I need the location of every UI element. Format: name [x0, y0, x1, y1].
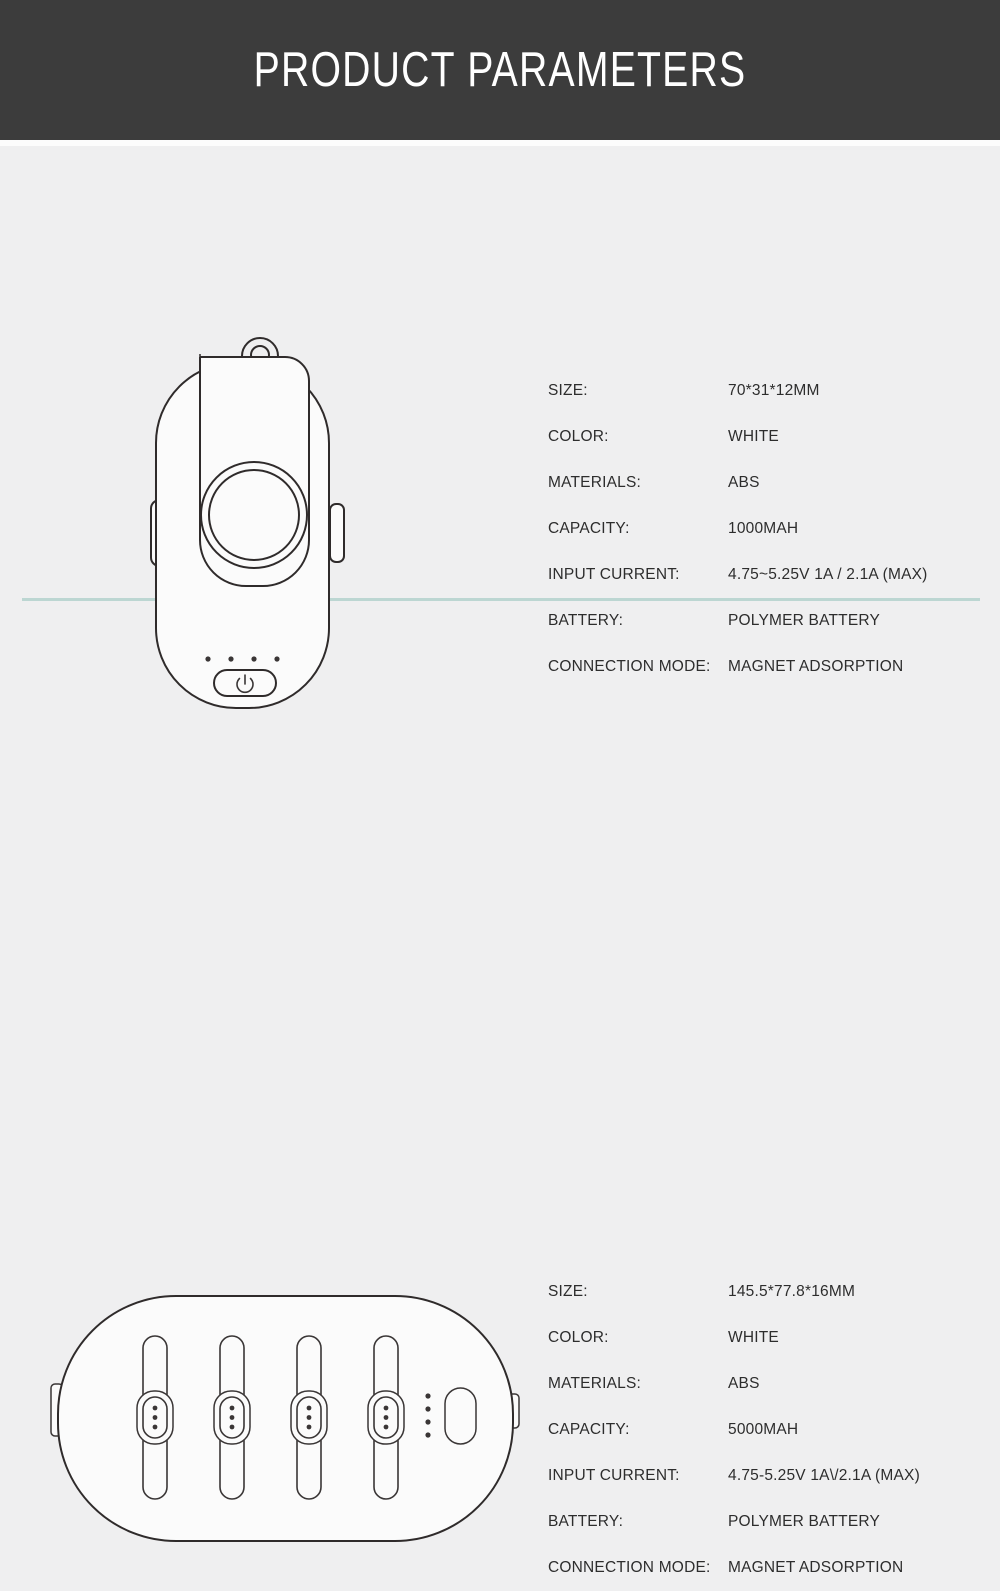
pogo-pin: [230, 1406, 235, 1411]
pogo-pin: [384, 1406, 389, 1411]
spec-label: COLOR:: [548, 1315, 728, 1361]
spec-label: CAPACITY:: [548, 1407, 728, 1453]
pogo-pin: [230, 1415, 235, 1420]
pogo-pin: [230, 1425, 235, 1430]
power-button-icon: [445, 1388, 476, 1444]
led-dot: [425, 1432, 430, 1437]
side-button-right-icon: [330, 504, 344, 562]
pogo-pin: [307, 1415, 312, 1420]
page-header: PRODUCT PARAMETERS: [0, 0, 1000, 140]
pogo-pin: [307, 1425, 312, 1430]
spec-label: COLOR:: [548, 414, 728, 460]
spec-value: ABS: [728, 460, 928, 506]
spec-value: ABS: [728, 1361, 920, 1407]
pogo-pin: [153, 1425, 158, 1430]
spec-value: MAGNET ADSORPTION: [728, 1545, 920, 1591]
pogo-pin: [384, 1425, 389, 1430]
spec-value: 4.75-5.25V 1A\/2.1A (MAX): [728, 1453, 920, 1499]
pogo-pin: [384, 1415, 389, 1420]
spec-label: MATERIALS:: [548, 1361, 728, 1407]
led-dot: [425, 1406, 430, 1411]
pogo-pin: [307, 1406, 312, 1411]
spec-label: INPUT CURRENT:: [548, 552, 728, 598]
spec-label: BATTERY:: [548, 1499, 728, 1545]
section-power-bank-clip: SIZE: 70*31*12MM COLOR: WHITE MATERIALS:…: [0, 146, 1000, 598]
spec-label: CAPACITY:: [548, 506, 728, 552]
spec-label: SIZE:: [548, 1269, 728, 1315]
spec-value: WHITE: [728, 414, 928, 460]
spec-value: 5000MAH: [728, 1407, 920, 1453]
led-dot: [425, 1419, 430, 1424]
spec-label: INPUT CURRENT:: [548, 1453, 728, 1499]
pogo-pin: [153, 1406, 158, 1411]
charging-base-illustration: [42, 1278, 532, 1558]
spec-value: 70*31*12MM: [728, 368, 928, 414]
spec-table-charging-base: SIZE: 145.5*77.8*16MM COLOR: WHITE MATER…: [548, 1269, 920, 1591]
spec-label: CONNECTION MODE:: [548, 1545, 728, 1591]
spec-value: WHITE: [728, 1315, 920, 1361]
spec-value: 145.5*77.8*16MM: [728, 1269, 920, 1315]
spec-value: POLYMER BATTERY: [728, 1499, 920, 1545]
product-parameters-page: PRODUCT PARAMETERS: [0, 0, 1000, 1033]
spec-value: 4.75~5.25V 1A / 2.1A (MAX): [728, 552, 928, 598]
section-charging-base: SIZE: 145.5*77.8*16MM COLOR: WHITE MATER…: [0, 614, 1000, 1033]
spec-label: MATERIALS:: [548, 460, 728, 506]
led-dot: [425, 1393, 430, 1398]
page-title: PRODUCT PARAMETERS: [254, 46, 747, 95]
spec-value: 1000MAH: [728, 506, 928, 552]
pogo-pin: [153, 1415, 158, 1420]
spec-label: SIZE:: [548, 368, 728, 414]
